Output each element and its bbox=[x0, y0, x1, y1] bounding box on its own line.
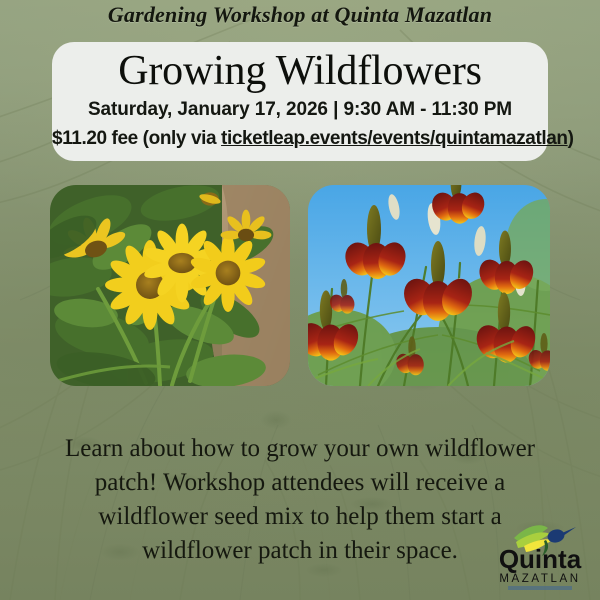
quinta-mazatlan-logo: Quinta MAZATLAN bbox=[488, 508, 592, 594]
logo-tagline-bar bbox=[508, 586, 572, 590]
logo-name-top: Quinta bbox=[499, 544, 582, 574]
event-description: Learn about how to grow your own wildflo… bbox=[48, 432, 552, 568]
eyebrow-heading: Gardening Workshop at Quinta Mazatlan bbox=[0, 2, 600, 28]
yellow-wildflowers-photo bbox=[50, 185, 290, 386]
event-fee-line: $11.20 fee (only via ticketleap.events/e… bbox=[52, 125, 548, 153]
event-fee-prefix: $11.20 fee (only via bbox=[52, 128, 221, 149]
logo-name-bottom: MAZATLAN bbox=[499, 573, 580, 585]
flyer-poster: Gardening Workshop at Quinta Mazatlan Gr… bbox=[0, 0, 600, 600]
mexican-hat-wildflowers-photo bbox=[308, 185, 550, 386]
event-info-card: Growing Wildflowers Saturday, January 17… bbox=[52, 42, 548, 161]
event-datetime: Saturday, January 17, 2026 | 9:30 AM - 1… bbox=[52, 95, 548, 125]
event-fee-suffix: ) bbox=[568, 128, 574, 149]
event-title: Growing Wildflowers bbox=[52, 47, 548, 95]
ticket-link[interactable]: ticketleap.events/events/quintamazatlan bbox=[221, 128, 568, 149]
